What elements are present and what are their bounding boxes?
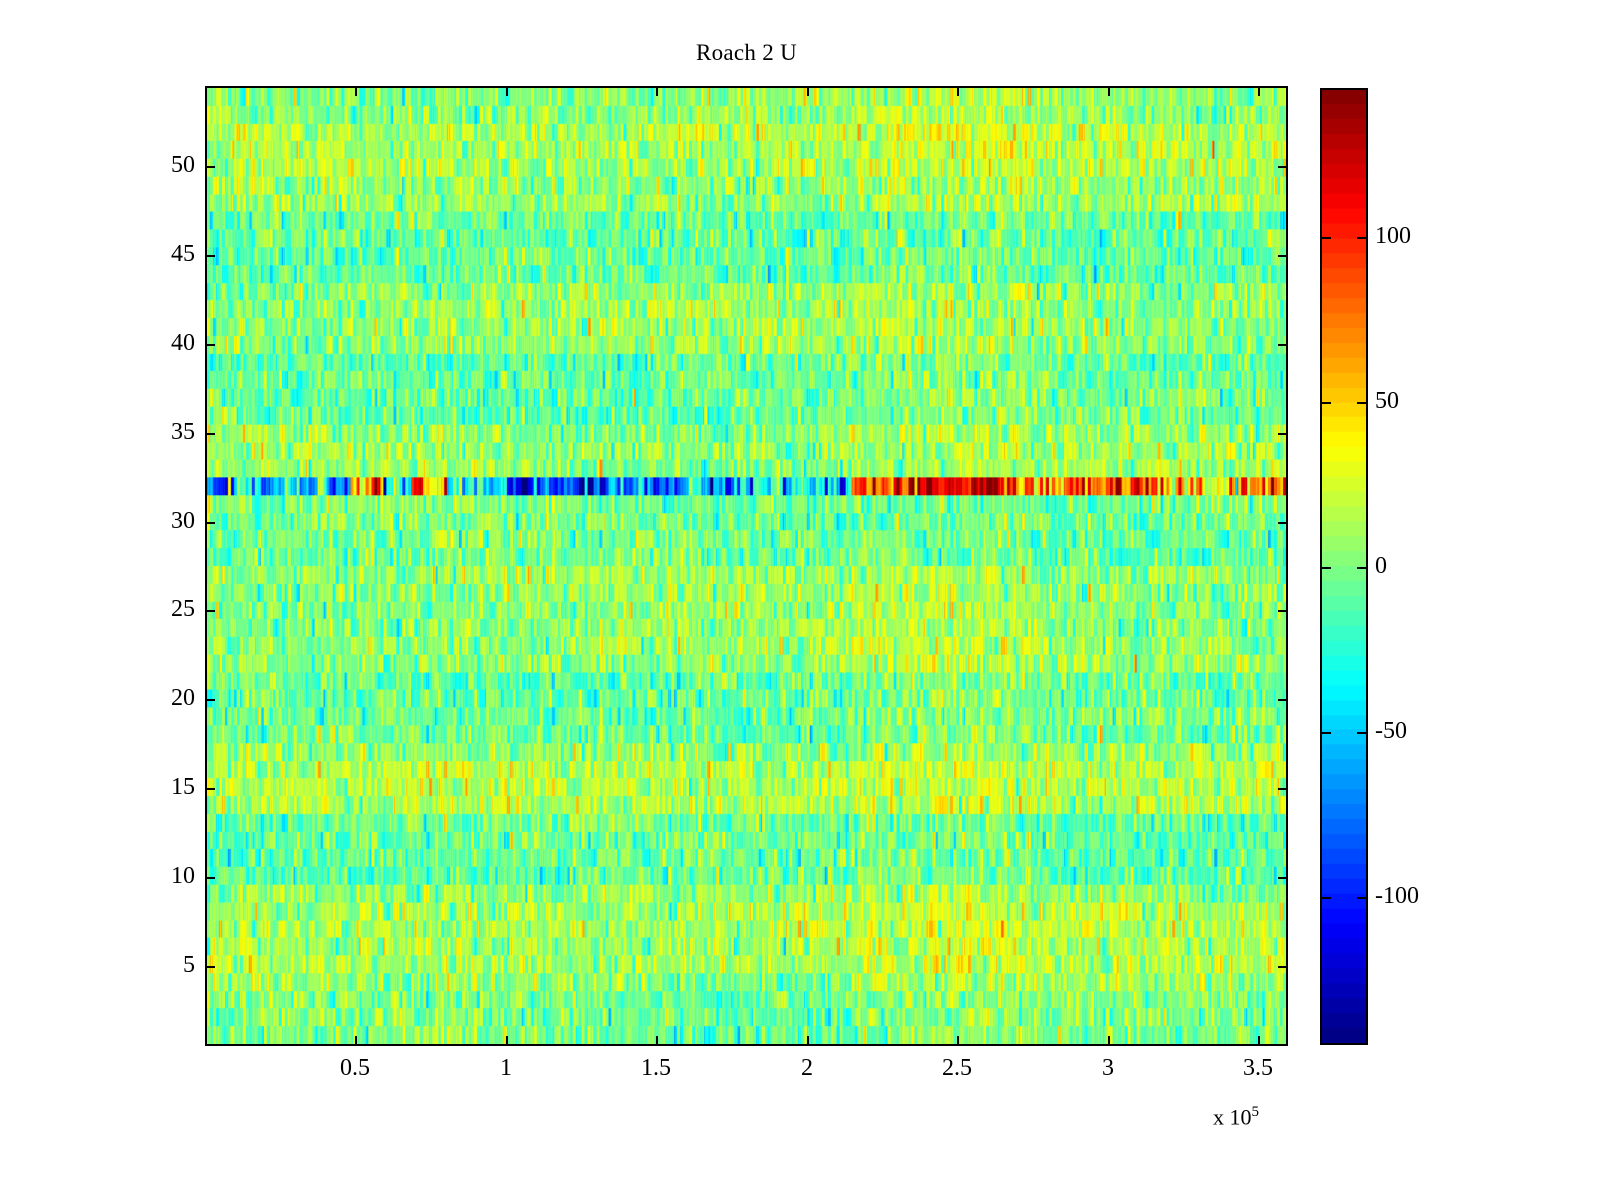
y-axis-tick-left <box>205 610 215 612</box>
colorbar-tick-left <box>1322 237 1331 239</box>
y-axis-tick-label: 5 <box>183 953 195 977</box>
y-axis-tick-right <box>1278 610 1288 612</box>
colorbar-tick-label: -100 <box>1375 884 1419 908</box>
y-axis-tick-label: 15 <box>171 775 195 799</box>
figure-canvas: Roach 2 U 51015202530354045500.511.522.5… <box>0 0 1600 1200</box>
y-axis-tick-right <box>1278 699 1288 701</box>
x-axis-tick-label: 3.5 <box>1198 1056 1318 1080</box>
x-axis-tick-top <box>1258 86 1260 96</box>
colorbar-tick-left <box>1322 567 1331 569</box>
y-axis-tick-label: 35 <box>171 420 195 444</box>
y-axis-tick-right <box>1278 344 1288 346</box>
y-axis-tick-left <box>205 166 215 168</box>
colorbar-tick-label: 0 <box>1375 554 1387 578</box>
y-axis-tick-left <box>205 255 215 257</box>
x-axis-tick-top <box>957 86 959 96</box>
y-axis-tick-label: 25 <box>171 597 195 621</box>
y-axis-tick-right <box>1278 255 1288 257</box>
y-axis-tick-left <box>205 522 215 524</box>
colorbar-tick-label: 50 <box>1375 389 1399 413</box>
y-axis-tick-label: 40 <box>171 331 195 355</box>
colorbar-tick-left <box>1322 897 1331 899</box>
y-axis-tick-label: 45 <box>171 242 195 266</box>
y-axis-tick-left <box>205 699 215 701</box>
x-axis-tick-label: 0.5 <box>295 1056 415 1080</box>
colorbar-tick-right <box>1357 237 1366 239</box>
x-axis-tick-label: 3 <box>1048 1056 1168 1080</box>
x-axis-tick-top <box>807 86 809 96</box>
x-axis-tick-label: 1.5 <box>596 1056 716 1080</box>
x-axis-tick-bottom <box>1108 1036 1110 1046</box>
y-axis-tick-left <box>205 344 215 346</box>
x-axis-tick-label: 2 <box>747 1056 867 1080</box>
colorbar-tick-left <box>1322 402 1331 404</box>
y-axis-tick-left <box>205 788 215 790</box>
colorbar-tick-right <box>1357 732 1366 734</box>
x-axis-exponent-power: 5 <box>1252 1104 1260 1120</box>
heatmap-axes[interactable] <box>205 86 1288 1046</box>
heatmap-image <box>207 88 1286 1044</box>
x-axis-tick-bottom <box>1258 1036 1260 1046</box>
y-axis-tick-label: 10 <box>171 864 195 888</box>
y-axis-tick-label: 20 <box>171 686 195 710</box>
y-axis-tick-label: 30 <box>171 509 195 533</box>
y-axis-tick-right <box>1278 966 1288 968</box>
colorbar-tick-right <box>1357 402 1366 404</box>
x-axis-exponent-label: x 105 <box>1213 1104 1259 1130</box>
x-axis-tick-bottom <box>355 1036 357 1046</box>
y-axis-tick-right <box>1278 433 1288 435</box>
x-axis-tick-top <box>1108 86 1110 96</box>
x-axis-tick-label: 1 <box>446 1056 566 1080</box>
x-axis-tick-top <box>506 86 508 96</box>
page-title: Roach 2 U <box>205 40 1288 66</box>
y-axis-tick-right <box>1278 166 1288 168</box>
x-axis-tick-bottom <box>656 1036 658 1046</box>
y-axis-tick-right <box>1278 788 1288 790</box>
x-axis-tick-top <box>355 86 357 96</box>
colorbar-tick-right <box>1357 567 1366 569</box>
x-axis-tick-bottom <box>506 1036 508 1046</box>
x-axis-tick-bottom <box>957 1036 959 1046</box>
x-axis-tick-top <box>656 86 658 96</box>
y-axis-tick-label: 50 <box>171 153 195 177</box>
x-axis-tick-bottom <box>807 1036 809 1046</box>
x-axis-exponent-prefix: x 10 <box>1213 1104 1252 1129</box>
colorbar-tick-label: -50 <box>1375 719 1407 743</box>
y-axis-tick-left <box>205 966 215 968</box>
colorbar-tick-label: 100 <box>1375 224 1411 248</box>
y-axis-tick-right <box>1278 877 1288 879</box>
y-axis-tick-right <box>1278 522 1288 524</box>
colorbar-tick-left <box>1322 732 1331 734</box>
y-axis-tick-left <box>205 877 215 879</box>
y-axis-tick-left <box>205 433 215 435</box>
x-axis-tick-label: 2.5 <box>897 1056 1017 1080</box>
colorbar-tick-right <box>1357 897 1366 899</box>
